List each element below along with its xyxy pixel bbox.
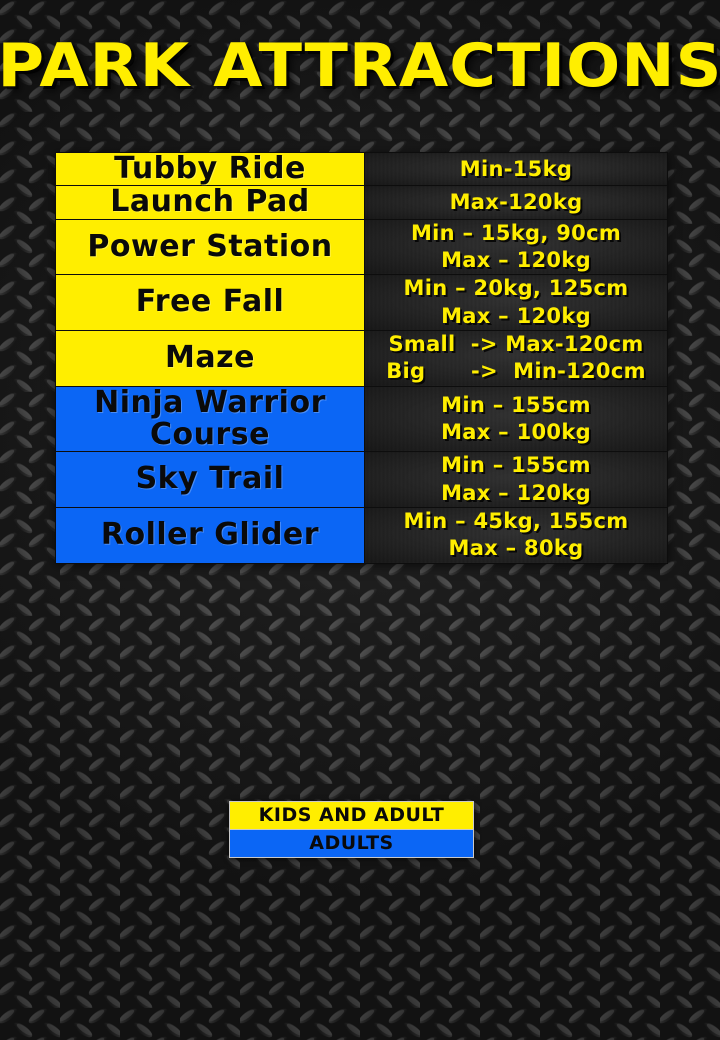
attraction-rules: Min – 155cm Max – 100kg <box>365 386 668 452</box>
attraction-name: Tubby Ride <box>56 153 365 186</box>
rule-line: Min – 45kg, 155cm <box>365 508 667 535</box>
table-row: Launch Pad Max-120kg <box>56 186 668 219</box>
page-title: PARK ATTRACTIONS <box>0 36 720 96</box>
rule-line: Max – 120kg <box>365 247 667 274</box>
rule-line: Max – 120kg <box>365 480 667 507</box>
table-row: Maze Small -> Max-120cm Big -> Min-120cm <box>56 330 668 386</box>
rule-line: Min – 20kg, 125cm <box>365 275 667 302</box>
table-row: Sky Trail Min – 155cm Max – 120kg <box>56 452 668 508</box>
attractions-table-body: Tubby Ride Min-15kg Launch Pad Max-120kg… <box>56 153 668 564</box>
rule-line: Max – 80kg <box>365 535 667 562</box>
rule-line: Min – 155cm <box>365 452 667 479</box>
rule-line: Max-120kg <box>365 189 667 216</box>
attractions-table: Tubby Ride Min-15kg Launch Pad Max-120kg… <box>55 152 668 564</box>
attraction-name: Power Station <box>56 219 365 275</box>
attraction-name: Maze <box>56 330 365 386</box>
attraction-rules: Small -> Max-120cm Big -> Min-120cm <box>365 330 668 386</box>
rule-line: Max – 100kg <box>365 419 667 446</box>
rule-line: Min – 15kg, 90cm <box>365 220 667 247</box>
attraction-name: Ninja Warrior Course <box>56 386 365 452</box>
table-row: Power Station Min – 15kg, 90cm Max – 120… <box>56 219 668 275</box>
attraction-rules: Min-15kg <box>365 153 668 186</box>
attraction-name: Sky Trail <box>56 452 365 508</box>
attraction-rules: Max-120kg <box>365 186 668 219</box>
attraction-name: Free Fall <box>56 275 365 331</box>
attraction-name: Launch Pad <box>56 186 365 219</box>
attraction-rules: Min – 45kg, 155cm Max – 80kg <box>365 507 668 563</box>
legend-kids-and-adult: KIDS AND ADULT <box>230 802 473 829</box>
rule-line: Big -> Min-120cm <box>365 358 667 385</box>
table-row: Free Fall Min – 20kg, 125cm Max – 120kg <box>56 275 668 331</box>
attraction-name: Roller Glider <box>56 507 365 563</box>
table-row: Roller Glider Min – 45kg, 155cm Max – 80… <box>56 507 668 563</box>
legend-adults: ADULTS <box>230 829 473 857</box>
table-row: Ninja Warrior Course Min – 155cm Max – 1… <box>56 386 668 452</box>
rule-line: Min – 155cm <box>365 392 667 419</box>
rule-line: Min-15kg <box>365 156 667 183</box>
attraction-rules: Min – 20kg, 125cm Max – 120kg <box>365 275 668 331</box>
rule-line: Small -> Max-120cm <box>365 331 667 358</box>
table-row: Tubby Ride Min-15kg <box>56 153 668 186</box>
attraction-rules: Min – 15kg, 90cm Max – 120kg <box>365 219 668 275</box>
attraction-rules: Min – 155cm Max – 120kg <box>365 452 668 508</box>
legend: KIDS AND ADULT ADULTS <box>229 801 474 858</box>
rule-line: Max – 120kg <box>365 303 667 330</box>
